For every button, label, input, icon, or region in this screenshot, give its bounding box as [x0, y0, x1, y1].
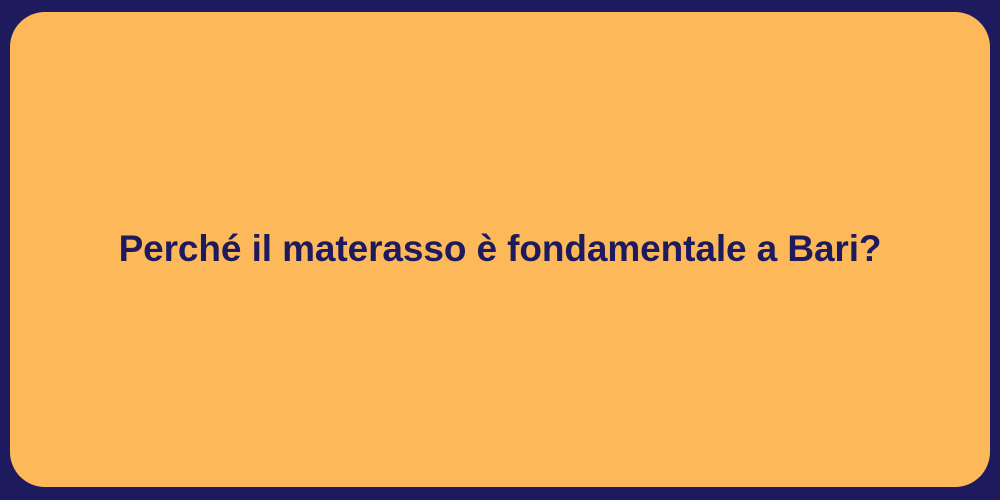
page-title: Perché il materasso è fondamentale a Bar… — [119, 226, 882, 272]
hero-card: Perché il materasso è fondamentale a Bar… — [10, 12, 990, 487]
hero-frame: Perché il materasso è fondamentale a Bar… — [0, 0, 1000, 500]
